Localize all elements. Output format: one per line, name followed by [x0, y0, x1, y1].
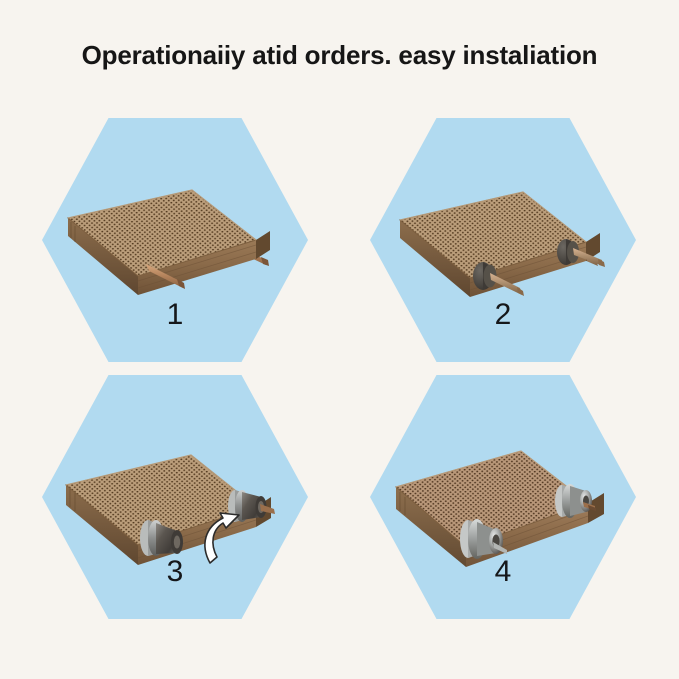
- step-number-1: 1: [42, 300, 308, 330]
- step-number-2: 2: [370, 300, 636, 330]
- step-panel-3: 3: [42, 375, 308, 619]
- step-panel-1: 1: [42, 118, 308, 362]
- step-panel-4: 4: [370, 375, 636, 619]
- step-panel-2: 2: [370, 118, 636, 362]
- step-number-3: 3: [42, 557, 308, 587]
- installation-infographic: Operationaiiy atid orders. easy instalia…: [0, 0, 679, 679]
- step-number-4: 4: [370, 557, 636, 587]
- steps-grid: 1: [0, 0, 679, 679]
